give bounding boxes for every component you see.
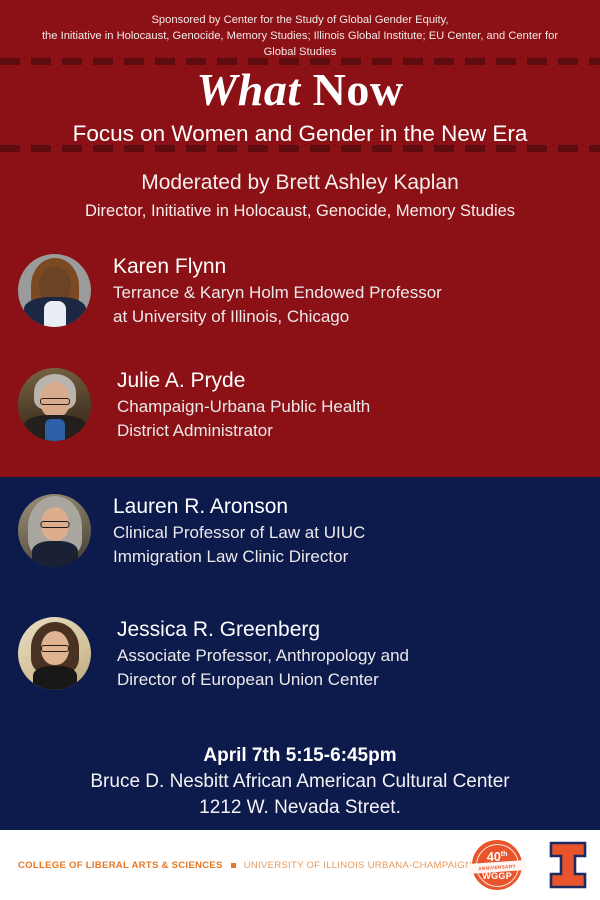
speaker-name: Lauren R. Aronson (113, 492, 365, 521)
footer-bar: COLLEGE OF LIBERAL ARTS & SCIENCES UNIVE… (0, 830, 600, 900)
speaker-entry-karen-flynn: Karen Flynn Terrance & Karyn Holm Endowe… (18, 252, 442, 329)
title-word-what: What (196, 64, 300, 115)
event-poster: Sponsored by Center for the Study of Glo… (0, 0, 600, 900)
university-name: UNIVERSITY OF ILLINOIS URBANA-CHAMPAIGN (244, 860, 473, 871)
speaker-name: Karen Flynn (113, 252, 442, 281)
speaker-role-line-2: Immigration Law Clinic Director (113, 545, 365, 569)
avatar-karen-flynn (18, 254, 91, 327)
poster-title-block: What Now Focus on Women and Gender in th… (0, 62, 600, 149)
speaker-role-line-1: Associate Professor, Anthropology and (117, 644, 409, 668)
sponsor-line-1: Sponsored by Center for the Study of Glo… (18, 12, 582, 28)
speaker-text-jessica-greenberg: Jessica R. Greenberg Associate Professor… (117, 615, 409, 692)
moderator-block: Moderated by Brett Ashley Kaplan Directo… (0, 168, 600, 224)
sponsor-block: Sponsored by Center for the Study of Glo… (0, 0, 600, 60)
avatar-julie-pryde (18, 368, 91, 441)
speaker-entry-jessica-greenberg: Jessica R. Greenberg Associate Professor… (18, 615, 409, 692)
speaker-text-julie-pryde: Julie A. Pryde Champaign-Urbana Public H… (117, 366, 370, 443)
seal-banner-text: ANNIVERSARY (478, 863, 516, 871)
speaker-name: Jessica R. Greenberg (117, 615, 409, 644)
speaker-role-line-1: Champaign-Urbana Public Health (117, 395, 370, 419)
anniversary-seal-icon: 40th ANNIVERSARY WGGP (472, 840, 522, 890)
dashed-divider-bottom (0, 145, 600, 152)
title-word-now: Now (313, 64, 404, 115)
speaker-role-line-2: at University of Illinois, Chicago (113, 305, 442, 329)
speaker-role-line-2: District Administrator (117, 419, 370, 443)
seal-number-ordinal: th (501, 851, 508, 858)
block-i-svg (548, 841, 588, 889)
moderator-role: Director, Initiative in Holocaust, Genoc… (0, 198, 600, 224)
event-address: 1212 W. Nevada Street. (0, 795, 600, 821)
event-details-block: April 7th 5:15-6:45pm Bruce D. Nesbitt A… (0, 742, 600, 821)
page-title: What Now (0, 62, 600, 118)
university-wordmark: COLLEGE OF LIBERAL ARTS & SCIENCES UNIVE… (18, 860, 472, 871)
illinois-block-i-icon (548, 841, 588, 889)
speaker-name: Julie A. Pryde (117, 366, 370, 395)
wordmark-separator-icon (231, 863, 236, 868)
college-name: COLLEGE OF LIBERAL ARTS & SCIENCES (18, 860, 223, 871)
speaker-role-line-1: Clinical Professor of Law at UIUC (113, 521, 365, 545)
moderator-name: Moderated by Brett Ashley Kaplan (0, 168, 600, 198)
speaker-role-line-1: Terrance & Karyn Holm Endowed Professor (113, 281, 442, 305)
speaker-role-line-2: Director of European Union Center (117, 668, 409, 692)
speaker-entry-julie-pryde: Julie A. Pryde Champaign-Urbana Public H… (18, 366, 370, 443)
event-datetime: April 7th 5:15-6:45pm (0, 742, 600, 769)
event-venue: Bruce D. Nesbitt African American Cultur… (0, 769, 600, 795)
speaker-text-lauren-aronson: Lauren R. Aronson Clinical Professor of … (113, 492, 365, 569)
speaker-entry-lauren-aronson: Lauren R. Aronson Clinical Professor of … (18, 492, 365, 569)
avatar-jessica-greenberg (18, 617, 91, 690)
sponsor-line-2: the Initiative in Holocaust, Genocide, M… (18, 28, 582, 44)
speaker-text-karen-flynn: Karen Flynn Terrance & Karyn Holm Endowe… (113, 252, 442, 329)
avatar-lauren-aronson (18, 494, 91, 567)
seal-org-text: WGGP (472, 871, 522, 881)
